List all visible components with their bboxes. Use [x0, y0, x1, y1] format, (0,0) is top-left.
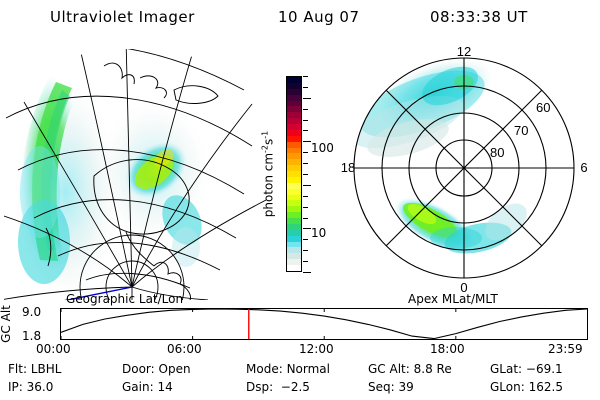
- colorbar-tick: [303, 120, 308, 121]
- status-dsp-label: Dsp:: [246, 380, 273, 394]
- orbit-xtick-4: 23:59: [548, 342, 583, 356]
- colorbar-tick: [303, 185, 311, 186]
- observation-date: 10 Aug 07: [278, 8, 360, 26]
- status-mode-label: Mode:: [246, 362, 283, 376]
- colorbar-gradient: [286, 76, 302, 272]
- colorbar-tick: [303, 98, 311, 99]
- colorbar-tick-100: 100: [311, 141, 334, 155]
- colorbar-tick: [303, 174, 308, 175]
- mlat-label-70: 70: [514, 123, 528, 138]
- colorbar-tick: [303, 163, 308, 164]
- status-flt-label: Flt:: [8, 362, 27, 376]
- colorbar-tick: [303, 152, 308, 153]
- orbit-xtick-0: 00:00: [36, 342, 71, 356]
- cb-label-sup1: -2: [261, 145, 270, 153]
- status-door-label: Door:: [122, 362, 155, 376]
- status-gcalt: GC Alt: 8.8 Re: [368, 362, 452, 376]
- status-glat-label: GLat:: [490, 362, 522, 376]
- colorbar-tick: [303, 250, 308, 251]
- status-gain-value: 14: [157, 380, 172, 394]
- orbit-plot-box: [60, 308, 588, 340]
- status-flt-value: LBHL: [31, 362, 62, 376]
- colorbar-axis-label: photon cm-2s-1: [261, 131, 276, 218]
- status-dsp: Dsp: −2.5: [246, 380, 310, 394]
- status-glat: GLat: −69.1: [490, 362, 563, 376]
- status-seq: Seq: 39: [368, 380, 414, 394]
- status-glon: GLon: 162.5: [490, 380, 563, 394]
- mlt-label-6: 6: [580, 160, 587, 175]
- status-block: Flt: LBHL Door: Open Mode: Normal GC Alt…: [0, 360, 600, 400]
- instrument-title: Ultraviolet Imager: [50, 8, 195, 26]
- status-door-value: Open: [159, 362, 191, 376]
- colorbar-tick: [303, 261, 308, 262]
- status-gain-label: Gain:: [122, 380, 154, 394]
- cb-label-sup2: -1: [261, 131, 270, 139]
- orbit-altitude-strip: GC Alt 9.0 1.8 00:00 06:00 12:00 18:00 2…: [0, 300, 600, 355]
- cb-label-prefix: photon cm: [262, 153, 276, 217]
- geographic-plot: [4, 42, 266, 300]
- status-ip: IP: 36.0: [8, 380, 53, 394]
- status-gain: Gain: 14: [122, 380, 173, 394]
- status-gcalt-value: 8.8 Re: [414, 362, 452, 376]
- cb-label-mid: s: [262, 139, 276, 145]
- geographic-image-panel: [4, 42, 266, 300]
- colorbar-tick: [303, 207, 308, 208]
- header-bar: Ultraviolet Imager 10 Aug 07 08:33:38 UT: [0, 8, 600, 32]
- status-ip-value: 36.0: [27, 380, 54, 394]
- apex-mlat-mlt-panel: 12 6 0 18 60 70 80: [338, 42, 596, 300]
- status-mode: Mode: Normal: [246, 362, 330, 376]
- colorbar: photon cm-2s-1 100 10: [284, 76, 336, 276]
- mlt-label-12: 12: [457, 44, 471, 59]
- status-glon-value: 162.5: [529, 380, 563, 394]
- status-seq-value: 39: [399, 380, 414, 394]
- status-ip-label: IP:: [8, 380, 23, 394]
- colorbar-tick: [303, 218, 308, 219]
- status-door: Door: Open: [122, 362, 191, 376]
- status-dsp-value: −2.5: [281, 380, 310, 394]
- mlat-label-60: 60: [536, 100, 550, 115]
- status-seq-label: Seq:: [368, 380, 395, 394]
- status-gcalt-label: GC Alt:: [368, 362, 410, 376]
- colorbar-tick-10: 10: [311, 226, 326, 240]
- mlat-label-80: 80: [490, 145, 504, 160]
- orbit-ylabel: GC Alt: [0, 305, 13, 343]
- polar-plot: 12 6 0 18 60 70 80: [338, 42, 596, 300]
- colorbar-tick: [303, 239, 308, 240]
- colorbar-tick: [303, 109, 308, 110]
- status-flt: Flt: LBHL: [8, 362, 61, 376]
- colorbar-tick: [303, 141, 311, 142]
- orbit-xtick-3: 18:00: [430, 342, 465, 356]
- orbit-xtick-2: 12:00: [299, 342, 334, 356]
- colorbar-tick: [303, 76, 308, 77]
- orbit-ytick-low: 1.8: [22, 329, 41, 343]
- colorbar-tick: [303, 228, 311, 229]
- colorbar-tick: [303, 196, 308, 197]
- uvi-display: Ultraviolet Imager 10 Aug 07 08:33:38 UT: [0, 0, 600, 400]
- orbit-trace: [61, 309, 587, 339]
- status-glon-label: GLon:: [490, 380, 525, 394]
- colorbar-tick: [303, 130, 308, 131]
- orbit-ytick-high: 9.0: [22, 305, 41, 319]
- colorbar-segment: [287, 265, 301, 271]
- status-glat-value: −69.1: [526, 362, 563, 376]
- colorbar-tick: [303, 87, 308, 88]
- status-mode-value: Normal: [287, 362, 330, 376]
- observation-time: 08:33:38 UT: [430, 8, 528, 26]
- mlt-label-18: 18: [341, 160, 355, 175]
- colorbar-tick: [303, 272, 311, 273]
- orbit-xtick-1: 06:00: [167, 342, 202, 356]
